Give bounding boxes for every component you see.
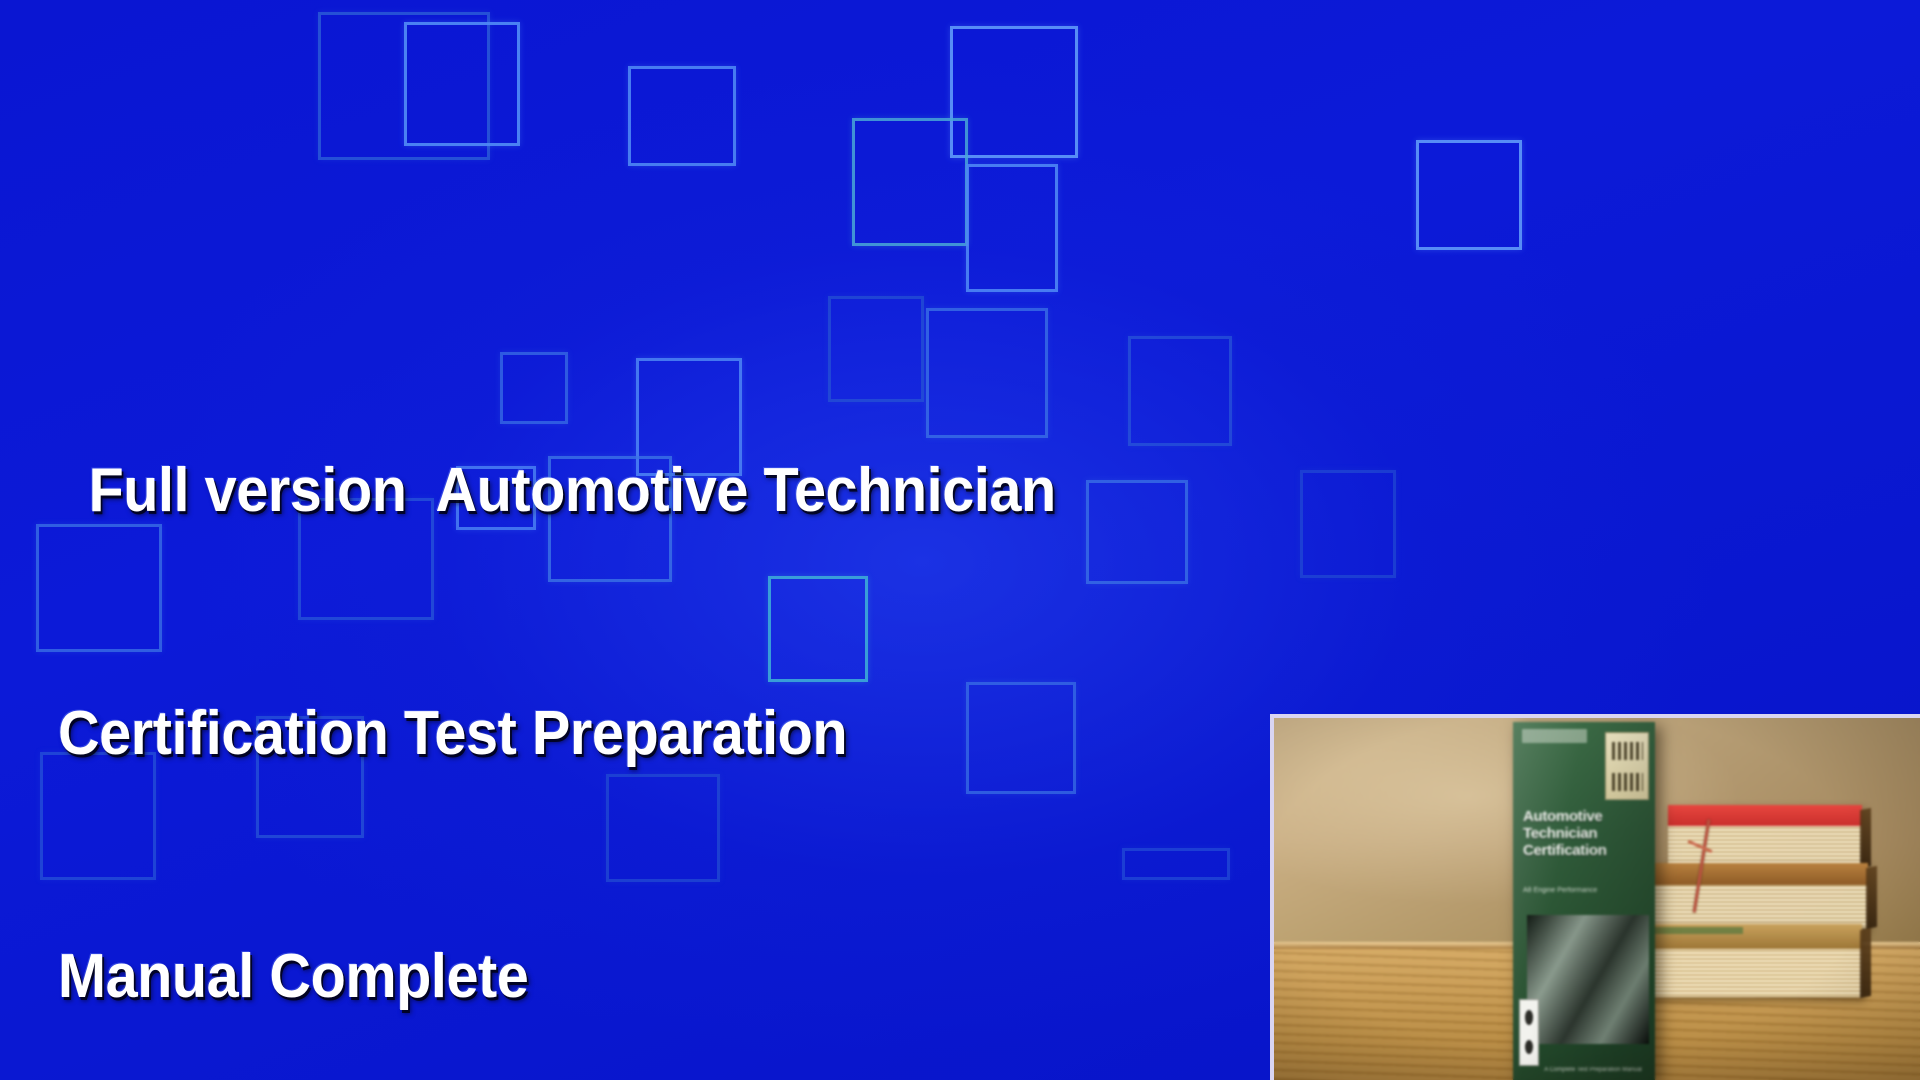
book-green-inlay [1655,927,1743,934]
book-cover-photo: Automotive Technician Certification A8 E… [1270,714,1920,1080]
title-line-2: Certification Test Preparation [58,693,1304,774]
slide-canvas: Full version Automotive Technician Certi… [0,0,1920,1080]
cover-light-sheen [1513,722,1655,1080]
stacked-book-bottom [1642,924,1862,996]
title-line-3: Manual Complete [58,936,1304,1017]
title-line-1: Full version Automotive Technician [58,450,1304,531]
page-title: Full version Automotive Technician Certi… [58,288,1304,1080]
stacked-book-middle [1655,863,1868,928]
photo-scene: Automotive Technician Certification A8 E… [1274,718,1920,1080]
book-spine-end [1860,927,1871,997]
book-cover-strip [1655,863,1868,885]
book-spine-end [1866,866,1877,930]
featured-book-cover: Automotive Technician Certification A8 E… [1513,722,1655,1080]
stacked-book-top [1668,805,1862,867]
book-cover-strip [1668,805,1862,826]
book-spine-end [1860,807,1871,867]
